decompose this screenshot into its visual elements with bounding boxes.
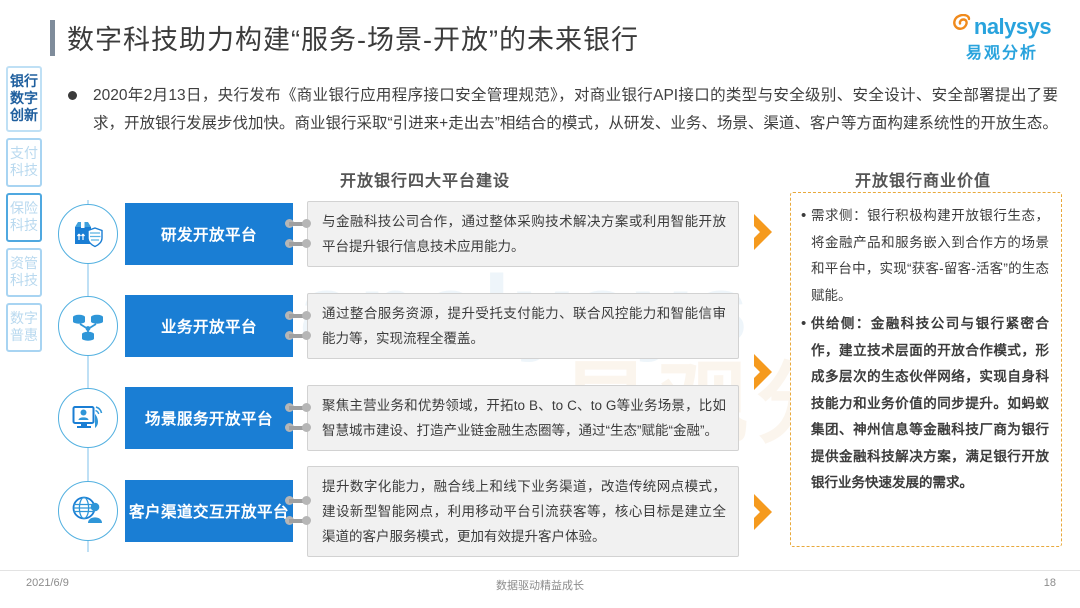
- globe-user-icon: [58, 481, 118, 541]
- business-value-panel: • 需求侧：银行积极构建开放银行生态，将金融产品和服务嵌入到合作方的场景和平台中…: [790, 192, 1062, 547]
- value-point-supply-side: • 供给侧：金融科技公司与银行紧密合作，建立技术层面的开放合作模式，形成多层次的…: [801, 311, 1049, 497]
- section-header-business-value: 开放银行商业价值: [855, 167, 991, 191]
- sidebar-item-label: 银行数字创新: [8, 73, 40, 124]
- connector-links: [285, 300, 311, 352]
- logo-wordmark: nalysys: [974, 16, 1051, 38]
- lead-paragraph: 2020年2月13日，央行发布《商业银行应用程序接口安全管理规范》，对商业银行A…: [68, 82, 1058, 138]
- connector-links: [285, 208, 311, 260]
- link-icon: [285, 423, 311, 432]
- connector-links: [285, 392, 311, 444]
- database-network-icon: [58, 296, 118, 356]
- title-text: 数字科技助力构建“服务-场景-开放”的未来银行: [67, 18, 639, 57]
- platform-label[interactable]: 客户渠道交互开放平台: [125, 480, 293, 542]
- link-icon: [285, 239, 311, 248]
- title-accent-bar: [50, 20, 55, 56]
- section-header-platforms: 开放银行四大平台建设: [340, 167, 510, 191]
- sidebar-item-label: 保险科技: [8, 200, 40, 234]
- sidebar-item-insurance-tech[interactable]: 保险科技: [6, 193, 42, 242]
- footer-slogan: 数据驱动精益成长: [0, 577, 1080, 593]
- footer-divider: [0, 570, 1080, 571]
- sidebar-item-asset-management-tech[interactable]: 资管科技: [6, 248, 42, 297]
- platform-row: 客户渠道交互开放平台 提升数字化能力，融合线上和线下业务渠道，改造传统网点模式，…: [58, 477, 739, 545]
- page-title: 数字科技助力构建“服务-场景-开放”的未来银行: [50, 18, 639, 57]
- sidebar-item-digital-inclusive-finance[interactable]: 数字普惠: [6, 303, 42, 352]
- analysys-logo: nalysys 易观分析: [942, 12, 1062, 63]
- chevron-right-icon: [752, 212, 782, 252]
- link-icon: [285, 403, 311, 412]
- logo-swoosh-icon: [953, 14, 973, 36]
- platform-label[interactable]: 研发开放平台: [125, 203, 293, 265]
- sidebar-item-bank-digital-innovation[interactable]: 银行数字创新: [6, 66, 42, 132]
- chevron-right-icon: [752, 492, 782, 532]
- chevron-right-icon: [752, 352, 782, 392]
- platform-row: 业务开放平台 通过整合服务资源，提升受托支付能力、联合风控能力和智能信审能力等，…: [58, 292, 739, 360]
- package-shield-icon: [58, 204, 118, 264]
- bullet-icon: •: [801, 203, 811, 309]
- value-point-text: 需求侧：银行积极构建开放银行生态，将金融产品和服务嵌入到合作方的场景和平台中，实…: [811, 203, 1049, 309]
- sidebar-item-label: 数字普惠: [8, 310, 40, 344]
- value-point-demand-side: • 需求侧：银行积极构建开放银行生态，将金融产品和服务嵌入到合作方的场景和平台中…: [801, 203, 1049, 309]
- sidebar-item-label: 资管科技: [8, 255, 40, 289]
- lead-paragraph-text: 2020年2月13日，央行发布《商业银行应用程序接口安全管理规范》，对商业银行A…: [93, 82, 1058, 138]
- sidebar[interactable]: 银行数字创新 支付科技 保险科技 资管科技 数字普惠: [6, 66, 44, 358]
- sidebar-item-label: 支付科技: [8, 145, 40, 179]
- link-icon: [285, 496, 311, 505]
- platform-row: 研发开放平台 与金融科技公司合作，通过整体采购技术解决方案或利用智能开放平台提升…: [58, 200, 739, 268]
- connector-links: [285, 485, 311, 537]
- logo-chinese-name: 易观分析: [942, 39, 1062, 63]
- value-point-text: 供给侧：金融科技公司与银行紧密合作，建立技术层面的开放合作模式，形成多层次的生态…: [811, 311, 1049, 497]
- link-icon: [285, 311, 311, 320]
- platform-label[interactable]: 业务开放平台: [125, 295, 293, 357]
- platform-description: 聚焦主营业务和优势领域，开拓to B、to C、to G等业务场景，比如智慧城市…: [307, 385, 739, 451]
- platform-description: 提升数字化能力，融合线上和线下业务渠道，改造传统网点模式，建设新型智能网点，利用…: [307, 466, 739, 557]
- footer-page-number: 18: [1044, 577, 1056, 589]
- link-icon: [285, 516, 311, 525]
- bullet-icon: •: [801, 311, 811, 497]
- platform-row: 场景服务开放平台 聚焦主营业务和优势领域，开拓to B、to C、to G等业务…: [58, 384, 739, 452]
- link-icon: [285, 219, 311, 228]
- bullet-dot-icon: [68, 91, 77, 100]
- link-icon: [285, 331, 311, 340]
- sidebar-item-payment-tech[interactable]: 支付科技: [6, 138, 42, 187]
- platform-description: 与金融科技公司合作，通过整体采购技术解决方案或利用智能开放平台提升银行信息技术应…: [307, 201, 739, 267]
- platform-label[interactable]: 场景服务开放平台: [125, 387, 293, 449]
- platform-description: 通过整合服务资源，提升受托支付能力、联合风控能力和智能信审能力等，实现流程全覆盖…: [307, 293, 739, 359]
- monitor-user-icon: [58, 388, 118, 448]
